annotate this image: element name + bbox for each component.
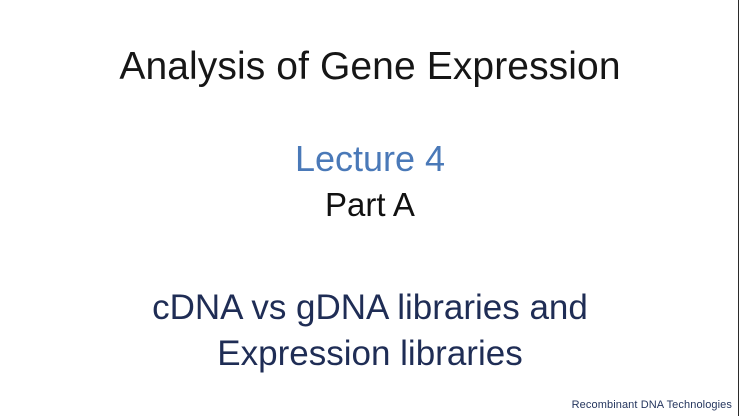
slide-footer-course-name: Recombinant DNA Technologies bbox=[572, 399, 732, 411]
subject-line-2: Expression libraries bbox=[0, 331, 740, 377]
slide-subject-block: cDNA vs gDNA libraries and Expression li… bbox=[0, 285, 740, 376]
lecture-part-label: Part A bbox=[0, 187, 740, 224]
lecture-number-label: Lecture 4 bbox=[0, 139, 740, 179]
subject-line-1: cDNA vs gDNA libraries and bbox=[0, 285, 740, 331]
slide-title: Analysis of Gene Expression bbox=[0, 45, 740, 89]
presentation-slide: Analysis of Gene Expression Lecture 4 Pa… bbox=[0, 0, 740, 416]
